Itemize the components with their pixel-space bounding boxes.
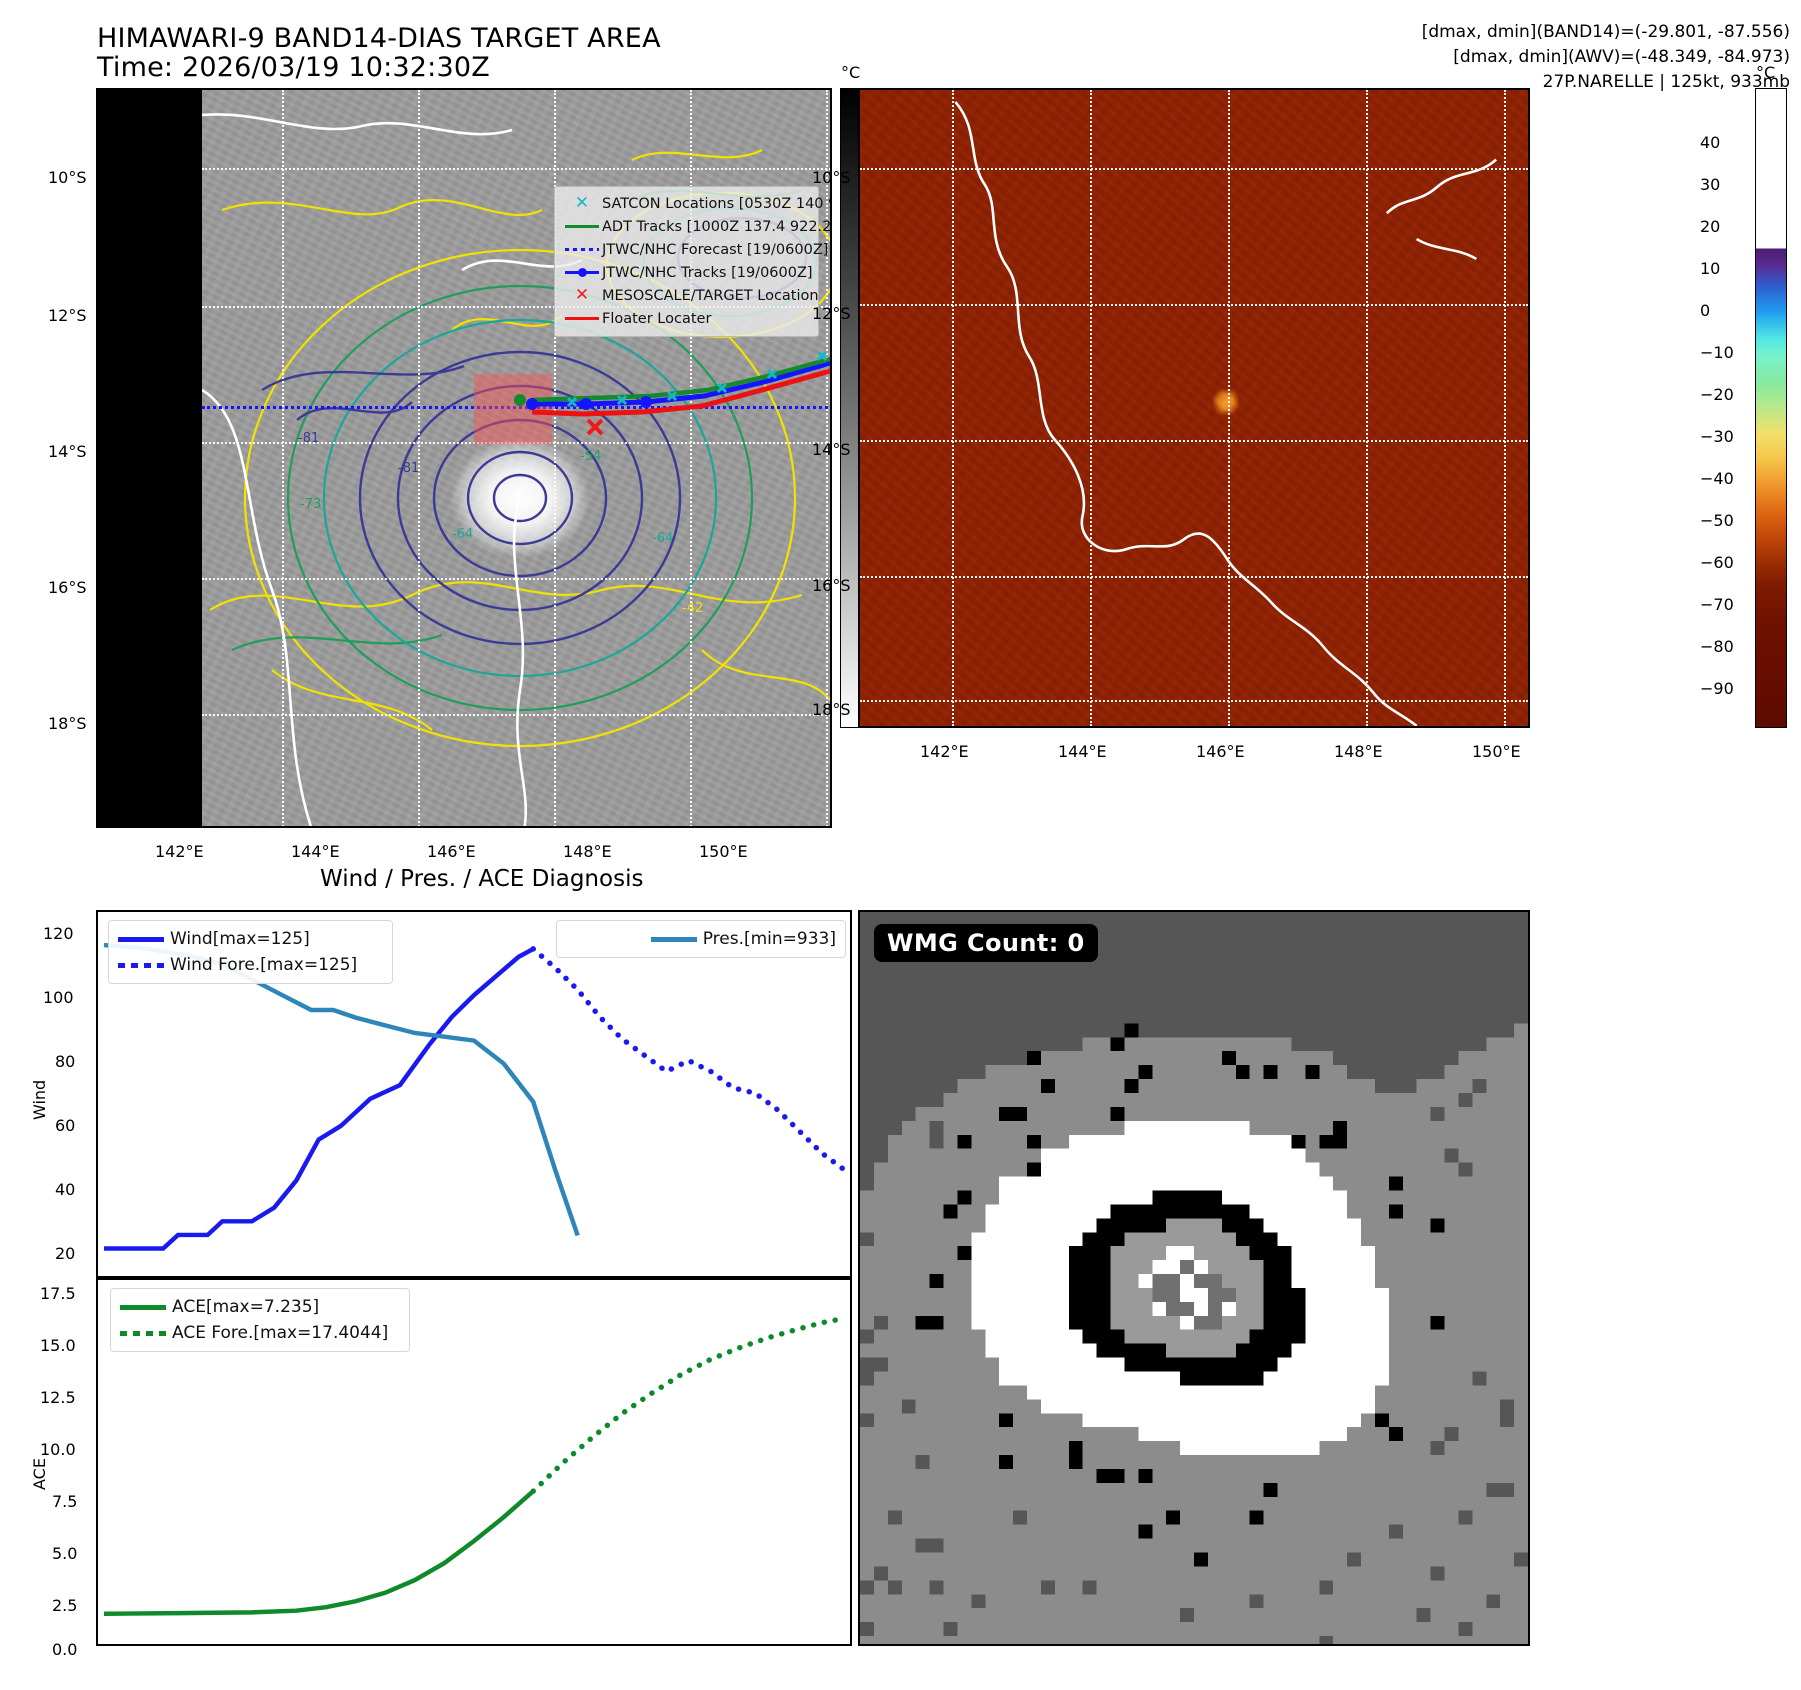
legend-item-adt[interactable]: ADT Tracks [1000Z 137.4 922.2] xyxy=(562,215,811,238)
lon-tick-144e-left: 144°E xyxy=(291,842,340,861)
legend-item-mesoscale[interactable]: ✕ MESOSCALE/TARGET Location xyxy=(562,284,811,307)
legend-label-satcon: SATCON Locations [0530Z 140 928] xyxy=(602,196,832,212)
pressure-line-icon xyxy=(651,937,703,942)
ace-tick-100: 10.0 xyxy=(40,1440,76,1459)
lon-tick-142e-right: 142°E xyxy=(920,742,969,761)
lat-tick-10s-left: 10°S xyxy=(48,168,87,187)
floater-line-icon xyxy=(562,317,602,320)
mesoscale-target-marker xyxy=(588,420,602,434)
series-ace-fore-max- xyxy=(533,1318,844,1491)
gridline-lon-150e-right xyxy=(1504,90,1506,726)
wind-tick-80: 80 xyxy=(55,1052,75,1071)
gridline-lat-18s-right xyxy=(860,700,1528,702)
cb-right-tick-0: 0 xyxy=(1700,301,1710,320)
satcon-x-icon: ✕ xyxy=(562,195,602,212)
awv-enhanced-ir-map[interactable] xyxy=(858,88,1530,728)
page-title: HIMAWARI-9 BAND14-DIAS TARGET AREA xyxy=(97,23,661,54)
cb-right-tick-m50: −50 xyxy=(1700,511,1734,530)
lat-tick-14s-left: 14°S xyxy=(48,442,87,461)
cb-right-tick-m80: −80 xyxy=(1700,637,1734,656)
legend-item-satcon[interactable]: ✕ SATCON Locations [0530Z 140 928] xyxy=(562,192,811,215)
page-timestamp: Time: 2026/03/19 10:32:30Z xyxy=(97,52,490,83)
gridline-lat-16s-right xyxy=(860,576,1528,578)
mesoscale-x-icon: ✕ xyxy=(562,287,602,304)
wind-forecast-dotted-icon xyxy=(118,963,170,968)
lat-tick-12s-left: 12°S xyxy=(48,306,87,325)
wind-legend[interactable]: Wind[max=125] Wind Fore.[max=125] xyxy=(108,920,393,984)
series-ace-max- xyxy=(104,1491,533,1614)
colorbar-unit-right: °C xyxy=(1756,63,1775,82)
dmax-dmin-band14: [dmax, dmin](BAND14)=(-29.801, -87.556) xyxy=(1160,20,1790,45)
legend-item-floater[interactable]: Floater Locater xyxy=(562,307,811,330)
lon-tick-144e-right: 144°E xyxy=(1058,742,1107,761)
coastline-overlay xyxy=(860,90,1528,726)
wmg-count-badge: WMG Count: 0 xyxy=(874,924,1098,962)
ace-tick-175: 17.5 xyxy=(40,1284,76,1303)
series-wind-fore-max- xyxy=(533,949,844,1170)
cb-right-tick-30: 30 xyxy=(1700,175,1720,194)
forecast-dotted-line-icon xyxy=(562,248,602,251)
ace-forecast-dotted-icon xyxy=(120,1331,172,1336)
legend-label-floater: Floater Locater xyxy=(602,311,711,327)
lat-tick-18s-right: 18°S xyxy=(812,700,851,719)
colorbar-unit-left: °C xyxy=(841,63,860,82)
legend-item-jtwc-tracks[interactable]: JTWC/NHC Tracks [19/0600Z] xyxy=(562,261,811,284)
gridline-lat-12s-right xyxy=(860,304,1528,306)
cb-right-tick-10: 10 xyxy=(1700,259,1720,278)
legend-item-wind-forecast[interactable]: Wind Fore.[max=125] xyxy=(118,952,383,978)
lat-tick-12s-right: 12°S xyxy=(812,304,851,323)
enhanced-ir-imagery xyxy=(860,90,1528,726)
adt-line-icon xyxy=(562,225,602,228)
lat-tick-16s-right: 16°S xyxy=(812,576,851,595)
ace-tick-00: 0.0 xyxy=(52,1640,77,1659)
cb-right-tick-m30: −30 xyxy=(1700,427,1734,446)
cb-right-tick-20: 20 xyxy=(1700,217,1720,236)
lat-tick-14s-right: 14°S xyxy=(812,440,851,459)
band14-target-area-map[interactable]: -81 -81 -64 -64 -73 -54 -42 xyxy=(96,88,832,828)
wind-tick-120: 120 xyxy=(43,924,74,943)
lat-tick-10s-right: 10°S xyxy=(812,168,851,187)
legend-label-ace-forecast: ACE Fore.[max=17.4044] xyxy=(172,1323,388,1343)
ace-legend[interactable]: ACE[max=7.235] ACE Fore.[max=17.4044] xyxy=(110,1288,410,1352)
lat-tick-18s-left: 18°S xyxy=(48,714,87,733)
ace-tick-75: 7.5 xyxy=(52,1492,77,1511)
ace-tick-25: 2.5 xyxy=(52,1596,77,1615)
gridline-lon-144e-right xyxy=(1090,90,1092,726)
legend-item-pressure[interactable]: Pres.[min=933] xyxy=(566,926,836,952)
charts-title: Wind / Pres. / ACE Diagnosis xyxy=(320,866,643,892)
legend-label-adt: ADT Tracks [1000Z 137.4 922.2] xyxy=(602,219,832,235)
cb-right-tick-40: 40 xyxy=(1700,133,1720,152)
legend-item-ace-forecast[interactable]: ACE Fore.[max=17.4044] xyxy=(120,1320,400,1346)
wind-tick-60: 60 xyxy=(55,1116,75,1135)
dmax-dmin-awv: [dmax, dmin](AWV)=(-48.349, -84.973) xyxy=(1160,45,1790,70)
gridline-lat-14s-right xyxy=(860,440,1528,442)
pressure-legend[interactable]: Pres.[min=933] xyxy=(556,920,846,958)
legend-label-wind-forecast: Wind Fore.[max=125] xyxy=(170,955,357,975)
wind-tick-100: 100 xyxy=(43,988,74,1007)
gridline-lon-142e-right xyxy=(952,90,954,726)
cb-right-tick-m40: −40 xyxy=(1700,469,1734,488)
jtwc-line-marker-icon xyxy=(562,271,602,274)
lon-tick-146e-left: 146°E xyxy=(427,842,476,861)
lon-tick-150e-left: 150°E xyxy=(699,842,748,861)
dashboard-root: HIMAWARI-9 BAND14-DIAS TARGET AREA Time:… xyxy=(0,0,1801,1690)
lon-tick-150e-right: 150°E xyxy=(1472,742,1521,761)
wmg-pixel-map xyxy=(860,912,1528,1644)
lon-tick-142e-left: 142°E xyxy=(155,842,204,861)
cb-right-tick-m70: −70 xyxy=(1700,595,1734,614)
cb-right-tick-m60: −60 xyxy=(1700,553,1734,572)
series-pres-min- xyxy=(104,945,578,1235)
series-wind-max- xyxy=(104,949,533,1249)
ace-tick-125: 12.5 xyxy=(40,1388,76,1407)
gridline-lat-10s-right xyxy=(860,168,1528,170)
lon-tick-148e-left: 148°E xyxy=(563,842,612,861)
adt-current-point xyxy=(514,394,526,406)
legend-item-forecast[interactable]: JTWC/NHC Forecast [19/0600Z] xyxy=(562,238,811,261)
adt-track xyxy=(532,358,832,400)
lat-tick-16s-left: 16°S xyxy=(48,578,87,597)
cb-right-tick-m90: −90 xyxy=(1700,679,1734,698)
wind-tick-20: 20 xyxy=(55,1244,75,1263)
legend-label-wind: Wind[max=125] xyxy=(170,929,310,949)
ace-tick-50: 5.0 xyxy=(52,1544,77,1563)
gridline-lon-146e-right xyxy=(1228,90,1230,726)
lon-tick-146e-right: 146°E xyxy=(1196,742,1245,761)
legend-item-ace[interactable]: ACE[max=7.235] xyxy=(120,1294,400,1320)
wind-tick-40: 40 xyxy=(55,1180,75,1199)
legend-label-pressure: Pres.[min=933] xyxy=(703,929,836,949)
wmg-cloud-cluster-panel[interactable]: WMG Count: 0 xyxy=(858,910,1530,1646)
cb-right-tick-m20: −20 xyxy=(1700,385,1734,404)
legend-label-mesoscale: MESOSCALE/TARGET Location xyxy=(602,288,819,304)
ace-tick-150: 15.0 xyxy=(40,1336,76,1355)
wind-axis-label: Wind xyxy=(30,1080,49,1120)
legend-label-forecast: JTWC/NHC Forecast [19/0600Z] xyxy=(602,242,828,258)
lon-tick-148e-right: 148°E xyxy=(1334,742,1383,761)
legend-item-wind[interactable]: Wind[max=125] xyxy=(118,926,383,952)
gridline-lon-148e-right xyxy=(1366,90,1368,726)
ace-line-icon xyxy=(120,1305,172,1310)
legend-label-ace: ACE[max=7.235] xyxy=(172,1297,319,1317)
map-legend[interactable]: ✕ SATCON Locations [0530Z 140 928] ADT T… xyxy=(554,186,819,337)
legend-label-jtwc-tracks: JTWC/NHC Tracks [19/0600Z] xyxy=(602,265,813,281)
colorbar-right xyxy=(1755,88,1787,728)
ace-axis-label: ACE xyxy=(30,1458,49,1490)
cb-right-tick-m10: −10 xyxy=(1700,343,1734,362)
wind-line-icon xyxy=(118,937,170,942)
